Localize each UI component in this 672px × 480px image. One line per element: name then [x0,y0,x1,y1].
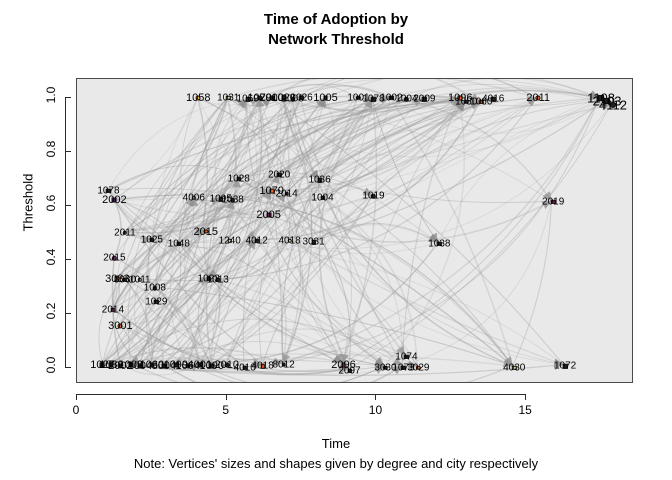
network-edges [77,79,632,382]
chart-title: Time of Adoption by Network Threshold [0,10,672,50]
node-label: 1029 [145,296,167,307]
x-axis-tick-label: 5 [206,403,246,417]
node-label: 1072 [554,361,576,372]
y-axis-tick [65,259,71,260]
network-edge [438,100,605,242]
node-label: 3031 [302,237,324,248]
node-label: 1038 [428,238,450,249]
chart-note: Note: Vertices' sizes and shapes given b… [0,456,672,471]
x-axis-tick [226,394,227,400]
node-label: 1026 [290,92,312,103]
node-label: 4016 [482,94,504,105]
node-label: 1048 [168,238,190,249]
node-label: 1013 [207,275,229,286]
node-label: 2019 [542,196,564,207]
x-axis-tick-label: 15 [505,403,545,417]
node-label: 4006 [183,192,205,203]
node-label: 3029 [407,362,429,373]
node-label: 1038 [222,195,244,206]
y-axis-tick-label: 1.0 [44,78,58,112]
y-axis-line [65,97,66,368]
y-axis-tick [65,97,71,98]
node-label: 2014 [275,188,297,199]
x-axis-tick [76,394,77,400]
network-edge [343,98,600,363]
node-label: 2005 [256,209,280,221]
x-axis-tick-label: 10 [355,403,395,417]
node-label: 1019 [362,191,384,202]
node-label: 1058 [186,92,210,104]
chart-root: Time of Adoption by Network Threshold Th… [0,0,672,480]
y-axis-tick-label: 0.8 [44,132,58,166]
node-label: 2011 [526,92,550,104]
y-axis-tick-label: 0.2 [44,294,58,328]
node-label: 2009 [413,94,435,105]
node-label: 1004 [311,192,333,203]
node-label: 2015 [194,226,218,238]
node-label: 1025 [141,234,163,245]
node-label: 2020 [268,169,290,180]
node-label: 2097 [338,365,360,376]
y-axis-tick [65,205,71,206]
node-label: 8012 [273,360,295,371]
x-axis-tick [375,394,376,400]
node-label: 2002 [102,194,126,206]
node-label: 4012 [246,235,268,246]
y-axis-label: Threshold [21,153,36,253]
y-axis-tick-label: 0.6 [44,186,58,220]
node-label: 1008 [144,283,166,294]
plot-area: 1058103110691079200010202006102610051001… [76,78,633,383]
node-label: 1028 [228,173,250,184]
y-axis-tick-label: 0.0 [44,348,58,382]
node-label: 1240 [219,235,241,246]
node-label: 2015 [103,253,125,264]
node-label: 4112 [599,97,627,112]
node-label: 1005 [313,92,337,104]
y-axis-tick-label: 0.4 [44,240,58,274]
node-label: 4030 [503,362,525,373]
node-label: 1074 [395,352,417,363]
node-label: 3001 [108,320,132,332]
x-axis-tick-label: 0 [56,403,96,417]
y-axis-tick [65,151,71,152]
x-axis-line [76,394,526,395]
y-axis-tick [65,367,71,368]
node-label: 1036 [308,175,330,186]
node-label: 2011 [114,227,136,238]
y-axis-tick [65,313,71,314]
node-label: 2014 [102,304,124,315]
network-edge [390,98,512,366]
node-label: 4018 [278,235,300,246]
x-axis-tick [525,394,526,400]
node-label: 4018 [252,361,274,372]
x-axis-label: Time [0,436,672,451]
